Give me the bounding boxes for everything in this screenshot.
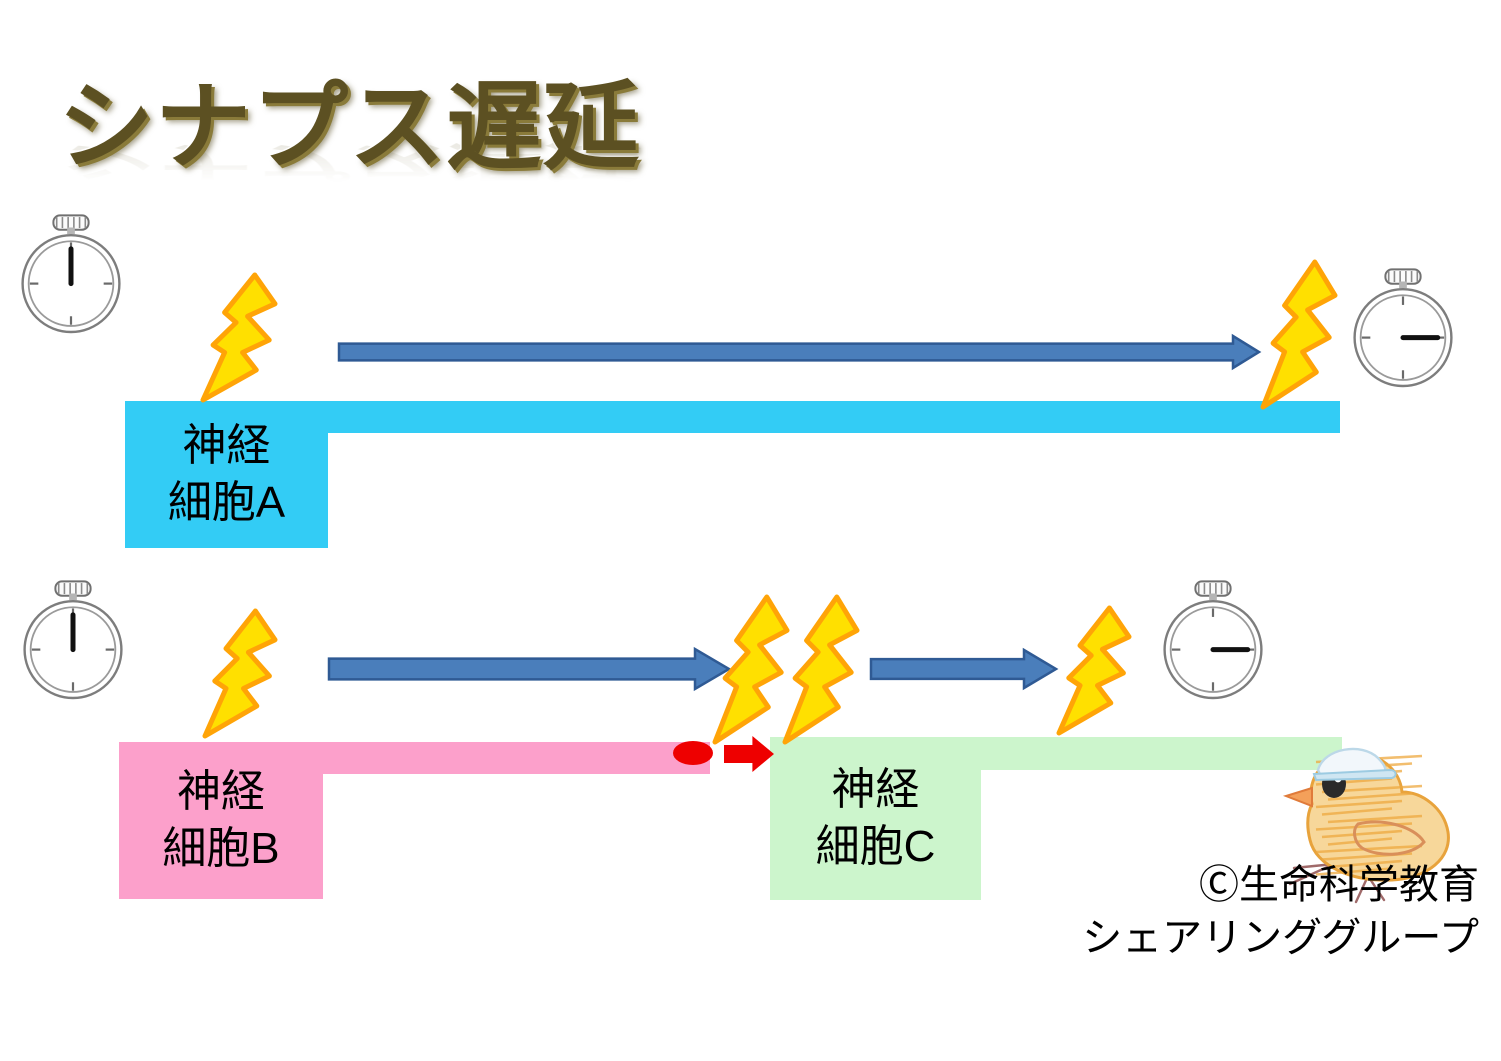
stopwatch-start-row-b [25, 581, 122, 698]
synaptic-terminal [673, 741, 713, 765]
stopwatch-end-row-b [1165, 581, 1262, 698]
stopwatch-end-row-a [1355, 269, 1452, 386]
stopwatch-stem [1399, 282, 1407, 289]
bolt-c-start [785, 597, 857, 742]
cell-label-a: 神経 細胞A [168, 418, 285, 531]
conduction-arrow-c [871, 650, 1056, 688]
bolt-c-end [1059, 608, 1129, 733]
title-block: シナプス遅延 シナプス遅延 [58, 78, 678, 258]
cell-label-c: 神経 細胞C [816, 762, 936, 875]
copyright-credit: Ⓒ生命科学教育 シェアリンググループ [1082, 859, 1479, 965]
bolt-b-start [205, 611, 275, 736]
cell-label-b: 神経 細胞B [162, 764, 279, 877]
chick-beak [1286, 788, 1312, 806]
bolt-a-start [203, 275, 275, 400]
stopwatch-stem [67, 228, 75, 235]
bolt-a-end [1263, 262, 1335, 407]
soma-cell-b: 神経 細胞B [119, 742, 323, 899]
soma-cell-a: 神経 細胞A [125, 401, 328, 548]
slide-canvas: シナプス遅延 シナプス遅延 神経 細胞A 神経 細胞B 神経 細胞C Ⓒ生命科学… [0, 0, 1501, 1061]
page-title: シナプス遅延 [58, 78, 640, 179]
conduction-arrow-b [329, 649, 729, 689]
stopwatch-stem [1209, 594, 1217, 601]
stopwatch-stem [69, 594, 77, 601]
neurotransmitter-arrow [724, 736, 774, 772]
conduction-arrow-a [339, 336, 1259, 368]
soma-cell-c: 神経 細胞C [770, 737, 981, 900]
